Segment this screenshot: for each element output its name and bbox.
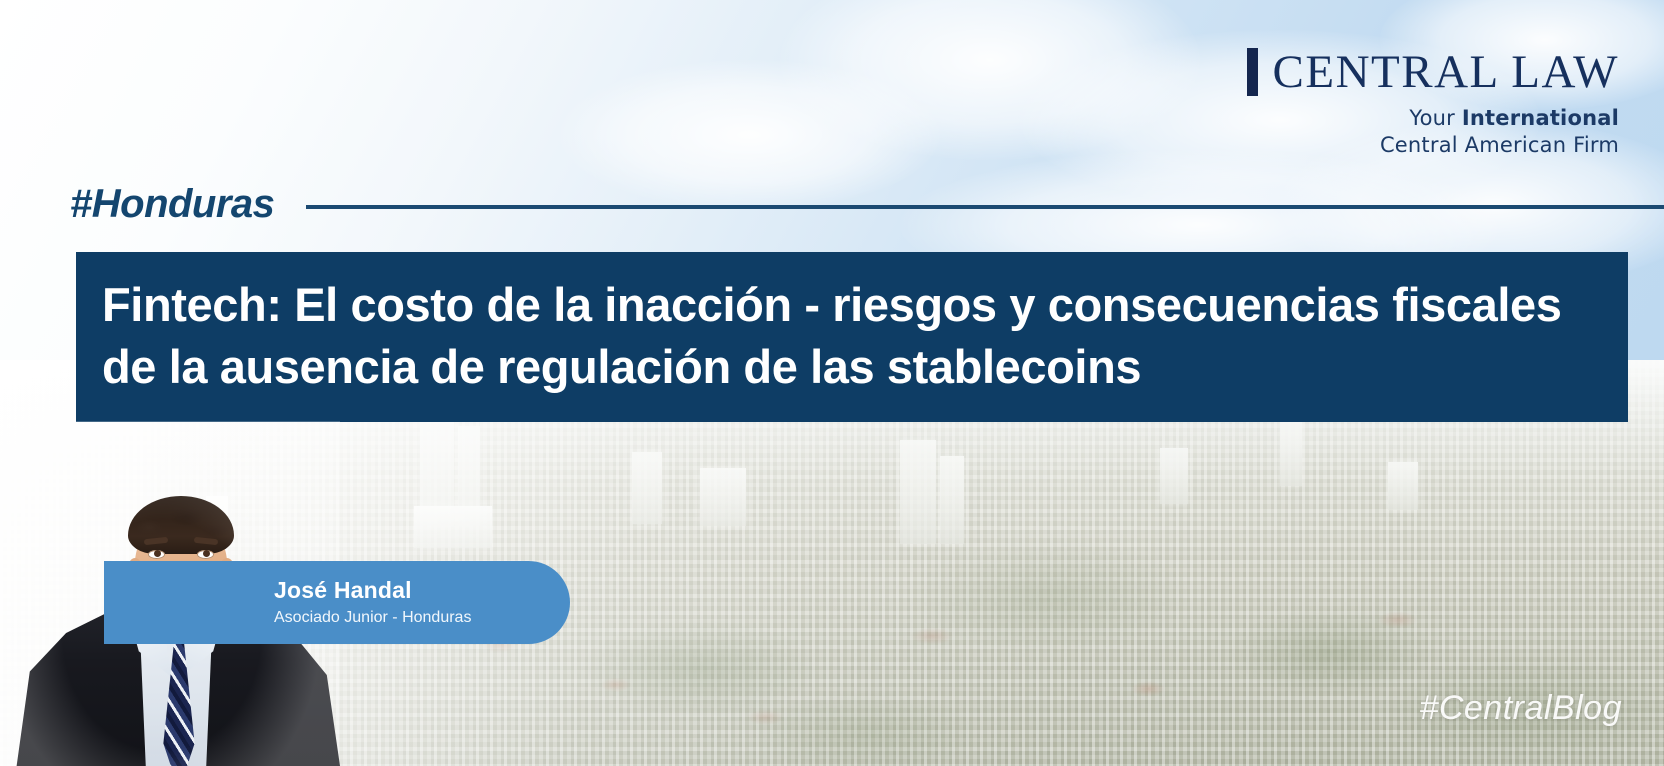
page-title: Fintech: El costo de la inacción - riesg… — [102, 274, 1602, 398]
country-hashtag: #Honduras — [70, 182, 274, 227]
logo-tagline: Your International Central American Firm — [1247, 105, 1619, 159]
horizontal-rule — [306, 205, 1664, 209]
logo-wordmark: CENTRAL LAW — [1273, 48, 1619, 96]
author-role: Asociado Junior - Honduras — [274, 607, 570, 629]
logo-bar-icon — [1247, 48, 1258, 96]
country-hashtag-row: #Honduras — [70, 182, 1664, 227]
author-name: José Handal — [274, 576, 570, 605]
cloud-shape — [780, 0, 1200, 160]
author-name-badge: José Handal Asociado Junior - Honduras — [104, 561, 570, 644]
logo-tagline-bold: International — [1462, 106, 1619, 130]
article-title-block: Fintech: El costo de la inacción - riesg… — [76, 252, 1628, 422]
central-law-logo[interactable]: CENTRAL LAW Your International Central A… — [1247, 48, 1619, 159]
logo-tagline-prefix: Your — [1409, 106, 1462, 130]
logo-tagline-line2: Central American Firm — [1380, 133, 1619, 157]
blog-banner: CENTRAL LAW Your International Central A… — [0, 0, 1664, 766]
blog-watermark: #CentralBlog — [1419, 689, 1622, 728]
logo-wordmark-row: CENTRAL LAW — [1247, 48, 1619, 96]
